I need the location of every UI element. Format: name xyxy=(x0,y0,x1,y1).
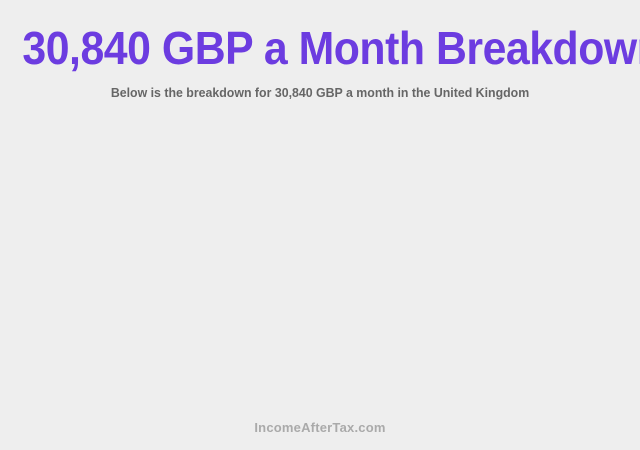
site-watermark: IncomeAfterTax.com xyxy=(0,420,640,436)
page-subtitle: Below is the breakdown for 30,840 GBP a … xyxy=(16,85,624,101)
chart-content-area xyxy=(0,112,640,410)
page-title: 30,840 GBP a Month Breakdown xyxy=(22,22,617,74)
page-root: 30,840 GBP a Month Breakdown Below is th… xyxy=(0,0,640,450)
